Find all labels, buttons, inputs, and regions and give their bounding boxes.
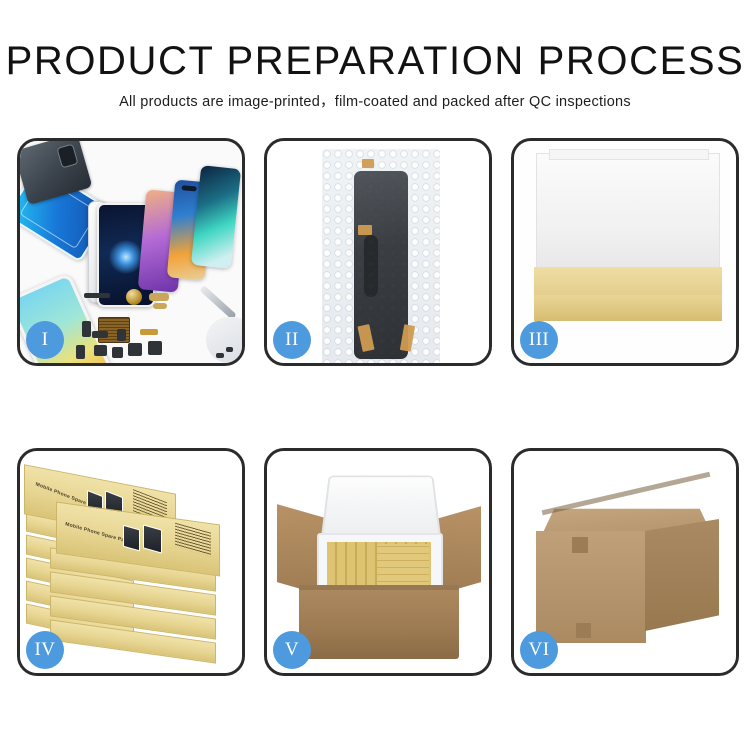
- speaker-part: [84, 293, 110, 298]
- step-badge-2: II: [273, 321, 311, 359]
- retail-boxes-bundle: [377, 544, 429, 588]
- step-badge-5: V: [273, 631, 311, 669]
- process-panel-5: V: [264, 448, 492, 676]
- small-part: [82, 321, 91, 337]
- kraft-tray-front: [534, 295, 722, 321]
- flex-cable-part: [149, 293, 169, 301]
- box-product-image: [143, 524, 162, 553]
- carton-front-face: [536, 531, 646, 643]
- small-part: [117, 329, 126, 341]
- bracket-part: [92, 331, 108, 338]
- step-badge-3: III: [520, 321, 558, 359]
- page-title: PRODUCT PREPARATION PROCESS: [0, 40, 750, 82]
- box-spec-lines: [175, 523, 211, 557]
- screw-part: [216, 353, 224, 358]
- bubble-wrap-bag: [322, 149, 440, 363]
- shipping-carton-body: [299, 585, 459, 659]
- small-part: [94, 345, 107, 356]
- connector-part: [140, 329, 158, 335]
- header: PRODUCT PREPARATION PROCESS All products…: [0, 0, 750, 111]
- sim-tray-part: [76, 345, 85, 359]
- foam-lid: [536, 153, 720, 279]
- flex-cable-part: [153, 303, 167, 309]
- foam-box-lid: [321, 476, 442, 539]
- process-panel-1: I: [17, 138, 245, 366]
- vibrator-part: [128, 343, 142, 356]
- small-part: [112, 347, 123, 358]
- tape-piece: [358, 225, 372, 235]
- process-panel-2: II: [264, 138, 492, 366]
- carton-flap-tab: [576, 623, 591, 638]
- screw-part: [226, 347, 233, 352]
- process-panel-4: Mobile Phone Spare Parts Mobile Phone Sp…: [17, 448, 245, 676]
- process-panel-3: III: [511, 138, 739, 366]
- step-badge-6: VI: [520, 631, 558, 669]
- tape-piece: [362, 159, 374, 168]
- carton-flap-tab: [572, 537, 588, 553]
- camera-lens-part: [126, 289, 142, 305]
- carton-side-face: [645, 519, 719, 631]
- process-panel-6: VI: [511, 448, 739, 676]
- step-badge-1: I: [26, 321, 64, 359]
- box-product-image: [123, 525, 140, 552]
- page-subtitle: All products are image-printed，film-coat…: [0, 93, 750, 111]
- step-badge-4: IV: [26, 631, 64, 669]
- camera-module-part: [148, 341, 162, 355]
- box-label-text: Mobile Phone Spare Parts: [65, 521, 132, 545]
- process-step-grid: I II III: [17, 138, 740, 676]
